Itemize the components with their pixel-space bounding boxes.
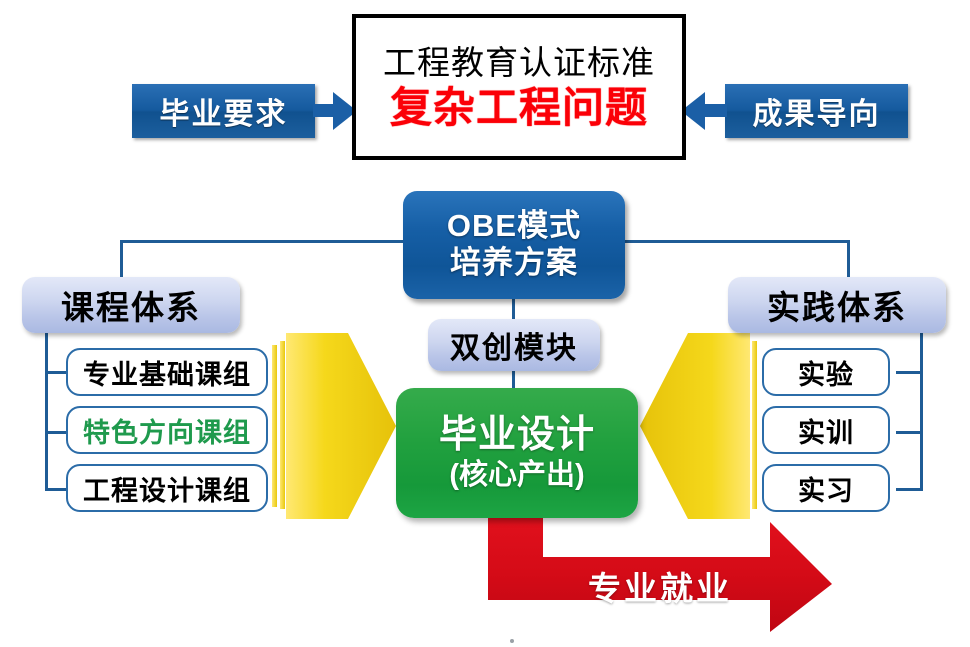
course-item-0: 专业基础课组 — [66, 348, 268, 396]
ability-training-arrow — [640, 333, 750, 519]
left-bus-drop — [120, 240, 123, 280]
complex-engineering-problem-title: 复杂工程问题 — [390, 85, 648, 131]
outcome-oriented-label: 成果导向 — [725, 84, 908, 138]
accreditation-standard-box: 工程教育认证标准 复杂工程问题 — [352, 14, 686, 160]
practice-item-2: 实习 — [762, 464, 890, 512]
diagram-canvas: 毕业要求 成果导向 工程教育认证标准 复杂工程问题 OBE模式 培养方案 课程体… — [0, 0, 970, 647]
practice-item-0: 实验 — [762, 348, 890, 396]
obe-program-box: OBE模式 培养方案 — [403, 191, 625, 299]
core-line-1: 毕业设计 — [439, 414, 595, 457]
left-arrow-stripe-1 — [272, 345, 277, 507]
standard-title: 工程教育认证标准 — [383, 45, 655, 81]
right-branch-trunk — [920, 333, 923, 488]
practice-system-box: 实践体系 — [728, 277, 946, 333]
graduation-design-core-box: 毕业设计 (核心产出) — [396, 388, 638, 518]
left-branch-trunk — [45, 333, 48, 488]
obe-line-2: 培养方案 — [450, 245, 578, 282]
decorative-dot — [510, 639, 514, 643]
left-arrow-stripe-2 — [280, 341, 285, 509]
right-stub-3 — [896, 488, 923, 491]
employment-label: 专业就业 — [545, 566, 775, 606]
right-arrow-shaft — [705, 104, 727, 117]
right-stub-1 — [896, 371, 923, 374]
graduation-requirements-label: 毕业要求 — [132, 84, 315, 138]
right-bus-drop — [847, 240, 850, 280]
left-arrow-shaft — [313, 104, 335, 117]
practice-item-1: 实训 — [762, 406, 890, 454]
right-stub-2 — [896, 431, 923, 434]
course-output-arrow — [286, 333, 396, 519]
course-system-box: 课程体系 — [22, 277, 240, 333]
right-arrow-stripe-1 — [752, 341, 757, 509]
innovation-module-box: 双创模块 — [428, 319, 600, 371]
core-line-2: (核心产出) — [449, 459, 584, 491]
obe-line-1: OBE模式 — [447, 208, 581, 245]
course-item-2: 工程设计课组 — [66, 464, 268, 512]
course-item-1: 特色方向课组 — [66, 406, 268, 454]
